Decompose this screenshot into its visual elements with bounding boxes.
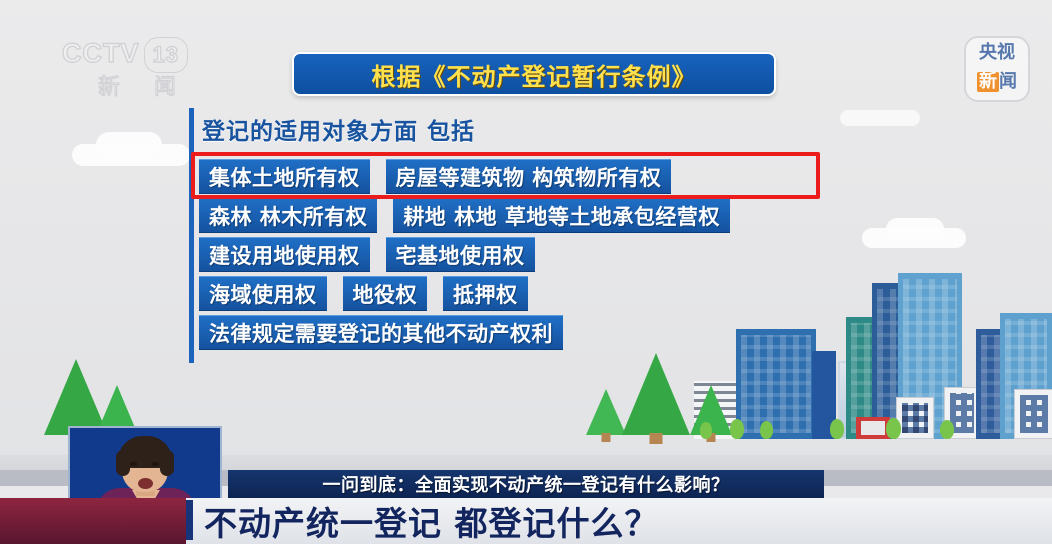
item-chip: 集体土地所有权: [199, 159, 370, 194]
section-subhead: 登记的适用对象方面 包括: [202, 112, 475, 146]
item-row: 集体土地所有权 房屋等建筑物 构筑物所有权: [199, 160, 730, 193]
interpreter-hair-side-right: [160, 450, 174, 476]
interpreter-mouth: [138, 478, 153, 489]
headline-left-strip: [0, 498, 186, 544]
item-chip-label: 地役权: [353, 279, 418, 309]
interpreter-eye-left: [130, 462, 137, 466]
title-banner: 根据《不动产登记暂行条例》: [292, 52, 776, 96]
item-chip-label: 耕地 林地 草地等土地承包经营权: [403, 201, 720, 231]
bush-3: [830, 419, 844, 439]
building-red-low: [856, 417, 890, 439]
lower-third-strap-text: 一问到底：全面实现不动产统一登记有什么影响？: [323, 471, 730, 497]
item-row: 建设用地使用权 宅基地使用权: [199, 238, 730, 271]
item-chip: 房屋等建筑物 构筑物所有权: [386, 159, 672, 194]
cctv-news-logo-char-new: 新: [977, 72, 999, 92]
item-chip: 耕地 林地 草地等土地承包经营权: [393, 198, 730, 233]
bush-4: [886, 418, 901, 439]
lower-third-strap: 一问到底：全面实现不动产统一登记有什么影响？: [228, 470, 824, 498]
cloud-left-2: [96, 132, 162, 158]
item-row: 森林 林木所有权 耕地 林地 草地等土地承包经营权: [199, 199, 730, 232]
item-chip: 海域使用权: [199, 276, 327, 311]
headline: 不动产统一登记 都登记什么？: [204, 498, 659, 544]
item-chip-label: 法律规定需要登记的其他不动产权利: [209, 318, 553, 348]
cctv-news-logo-line1: 央视: [979, 44, 1015, 62]
item-chip-label: 宅基地使用权: [396, 240, 525, 270]
building-white-3: [1014, 389, 1052, 439]
broadcast-frame: CCTV13 新 闻 央视 新 闻 根据《不动产登记暂行条例》 登记的适用对象方…: [0, 0, 1052, 544]
item-chip: 抵押权: [443, 276, 528, 311]
building-blue-1: [736, 329, 816, 439]
item-chip: 法律规定需要登记的其他不动产权利: [199, 315, 563, 350]
item-chip-label: 抵押权: [453, 279, 518, 309]
interpreter-hair-side-left: [116, 450, 130, 476]
cctv-news-logo: 央视 新 闻: [964, 36, 1030, 102]
cctv-news-logo-char-news: 闻: [999, 73, 1017, 91]
item-chip: 宅基地使用权: [386, 237, 535, 272]
registration-items-list: 集体土地所有权 房屋等建筑物 构筑物所有权 森林 林木所有权 耕地 林地 草地等…: [199, 160, 730, 355]
bush-1: [730, 419, 744, 439]
interpreter-eye-right: [152, 462, 159, 466]
item-chip-label: 海域使用权: [209, 279, 317, 309]
item-chip-label: 房屋等建筑物 构筑物所有权: [396, 162, 662, 192]
content-accent-bar: [189, 108, 194, 363]
bush-5: [940, 420, 954, 439]
item-row: 法律规定需要登记的其他不动产权利: [199, 316, 730, 349]
item-chip-label: 森林 林木所有权: [209, 201, 367, 231]
bush-6: [700, 422, 712, 439]
item-chip-label: 集体土地所有权: [209, 162, 360, 192]
cloud-mid: [840, 110, 920, 126]
item-chip-label: 建设用地使用权: [209, 240, 360, 270]
item-chip: 建设用地使用权: [199, 237, 370, 272]
headline-text: 不动产统一登记 都登记什么？: [204, 497, 659, 544]
pine-tree-4: [622, 353, 690, 435]
item-chip: 森林 林木所有权: [199, 198, 377, 233]
bush-2: [760, 421, 773, 439]
item-chip: 地役权: [343, 276, 428, 311]
cloud-right-2: [886, 218, 944, 240]
building-white-1: [896, 397, 934, 439]
item-row: 海域使用权 地役权 抵押权: [199, 277, 730, 310]
title-banner-text: 根据《不动产登记暂行条例》: [372, 57, 697, 92]
pine-tree-3: [586, 389, 626, 435]
headline-accent-bar: [186, 500, 193, 540]
